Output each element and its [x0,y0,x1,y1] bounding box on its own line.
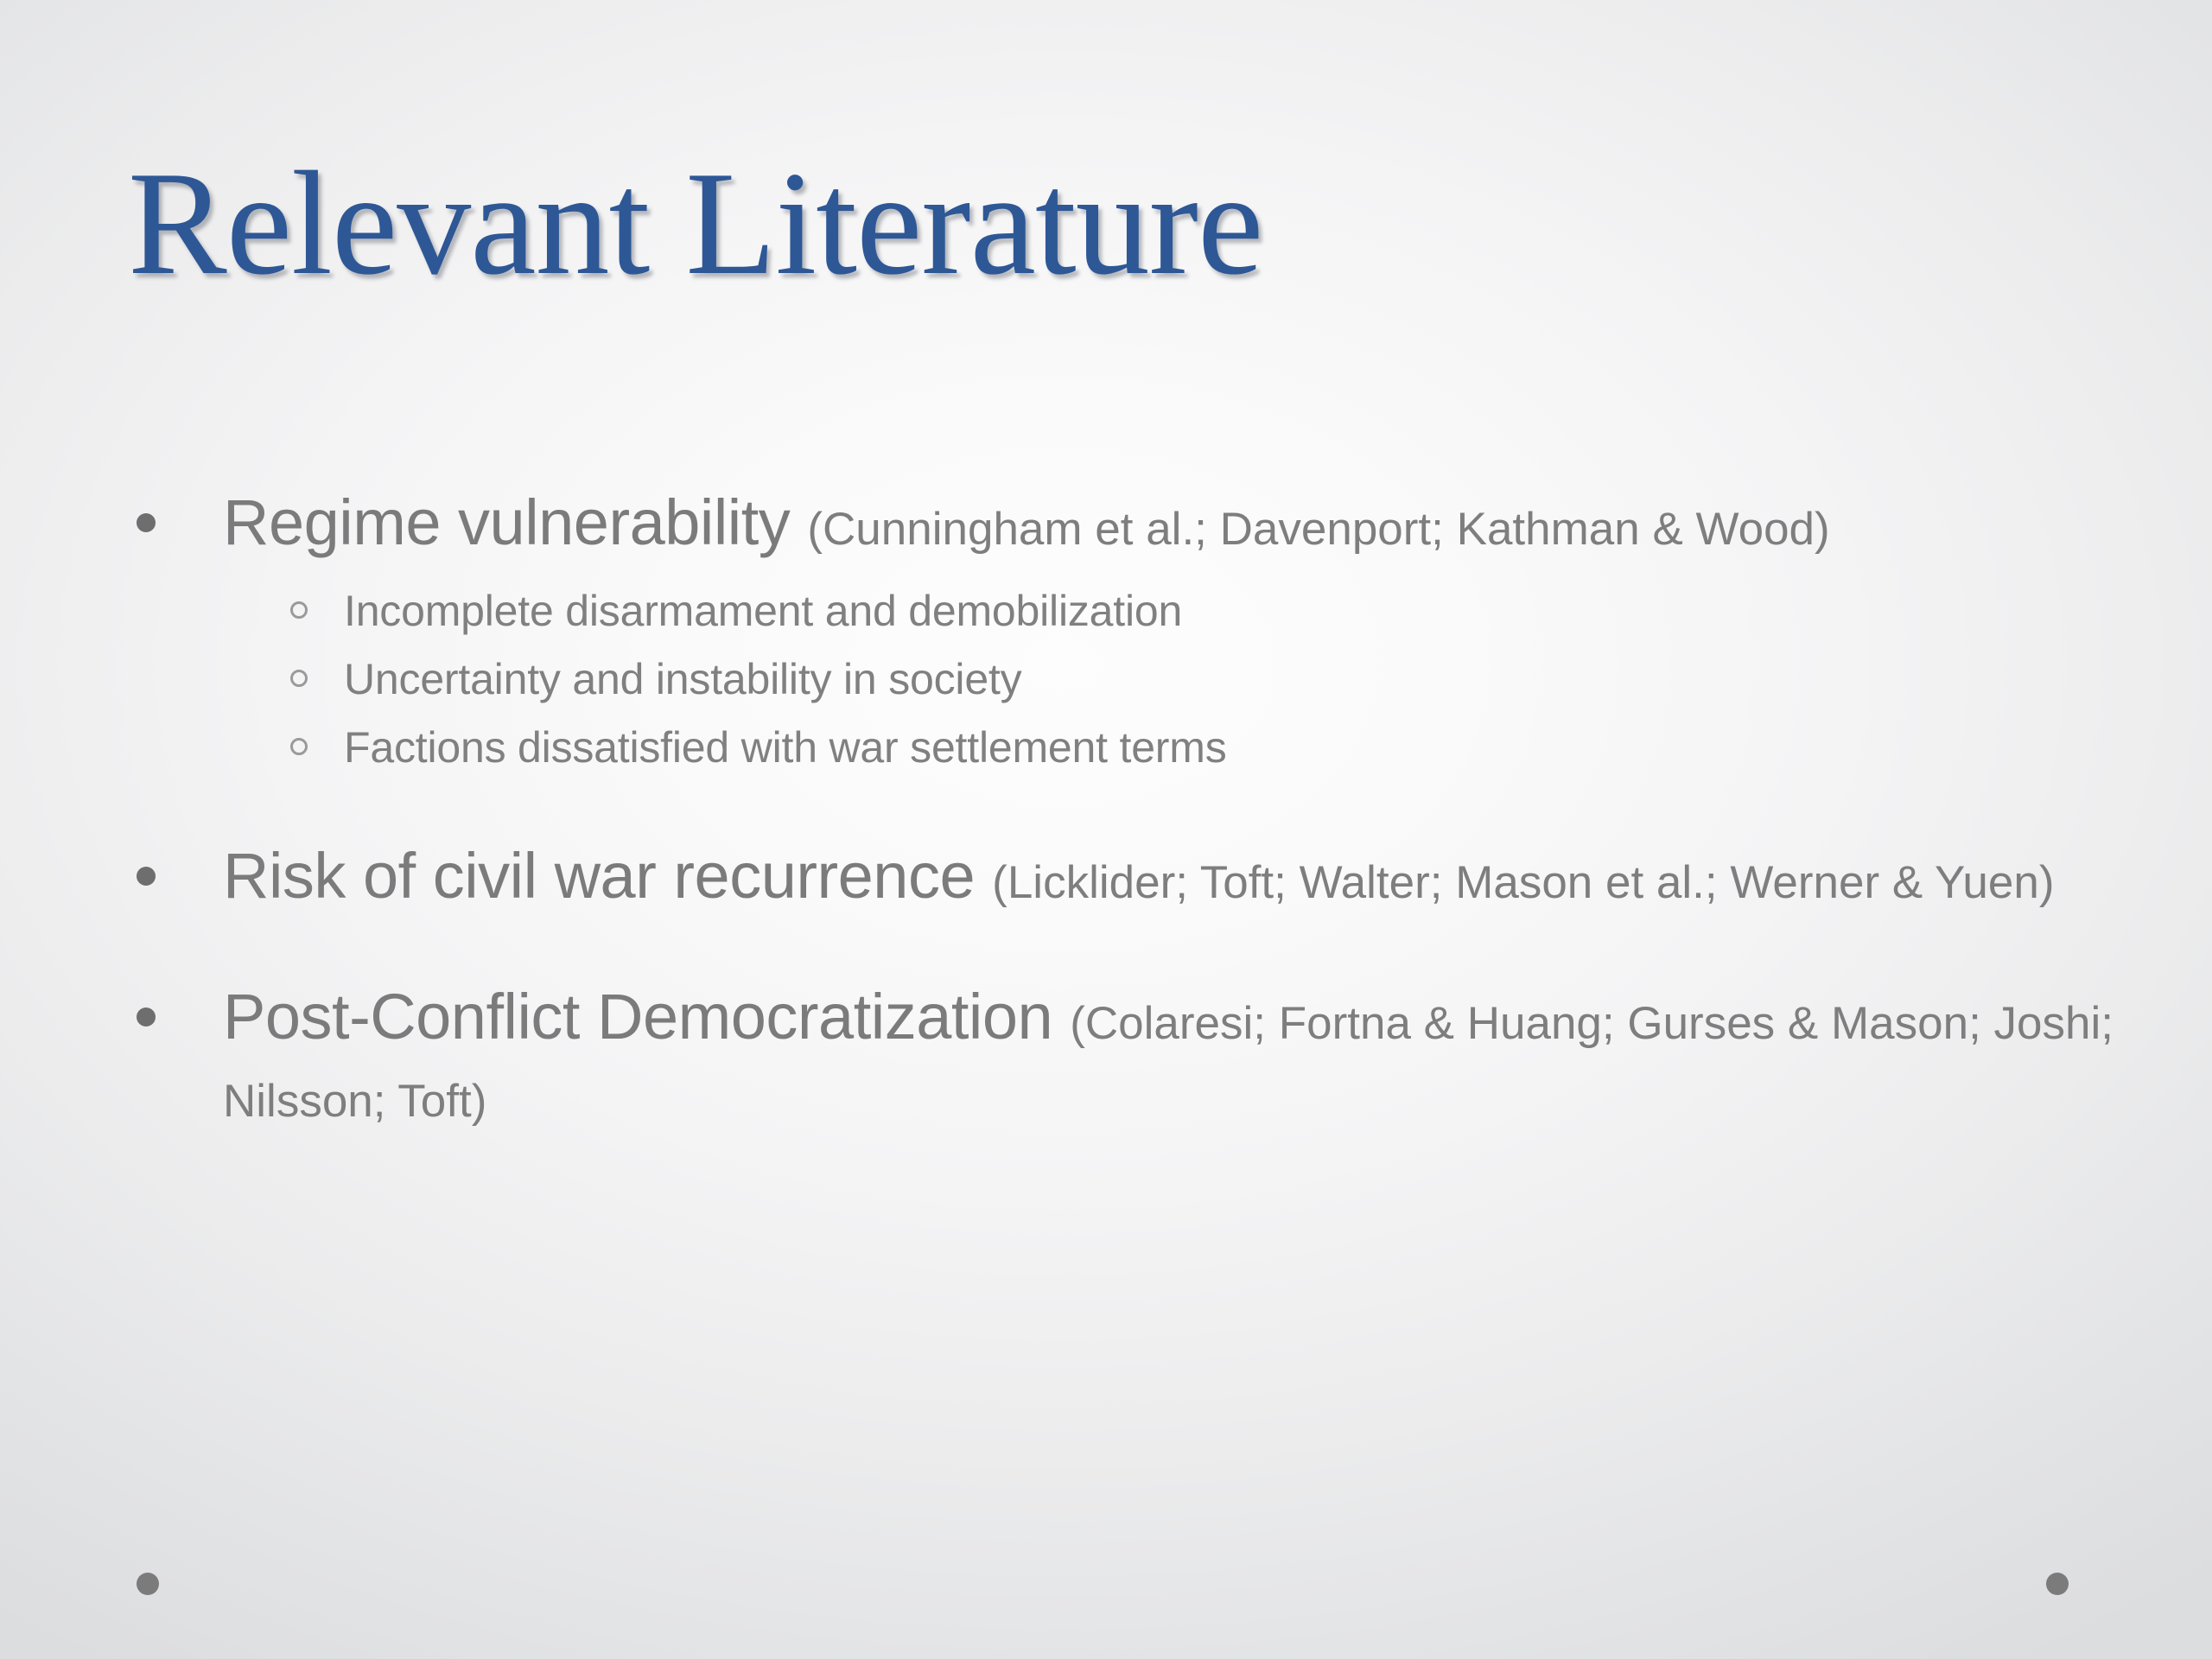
bullet-group: Risk of civil war recurrence (Licklider;… [130,837,2126,915]
bullet-group: Post-Conflict Democratization (Colaresi;… [130,978,2126,1135]
sub-bullet-label: Uncertainty and instability in society [344,655,1021,703]
list-item: Risk of civil war recurrence (Licklider;… [130,837,2126,915]
footer-dot-right-icon [2046,1573,2069,1595]
slide-canvas: Relevant Literature Regime vulnerability… [0,0,2212,1659]
bullet-citation: (Licklider; Toft; Walter; Mason et al.; … [992,857,2054,908]
hollow-circle-bullet-icon [290,670,308,687]
hollow-circle-bullet-icon [290,738,308,755]
footer-dot-left-icon [137,1573,159,1595]
bullet-group: Regime vulnerability (Cunningham et al.;… [130,484,2126,775]
filled-disc-bullet-icon [137,1007,156,1027]
bullet-citation: (Cunningham et al.; Davenport; Kathman &… [807,504,1829,555]
list-item: Incomplete disarmament and demobilizatio… [130,584,2126,639]
sub-bullet-label: Factions dissatisfied with war settlemen… [344,723,1227,772]
bullet-heading: Post-Conflict Democratization [223,981,1070,1052]
bullet-text: Risk of civil war recurrence (Licklider;… [223,837,2126,915]
hollow-circle-bullet-icon [290,601,308,619]
list-item: Regime vulnerability (Cunningham et al.;… [130,484,2126,562]
content-placeholder: Regime vulnerability (Cunningham et al.;… [130,484,2126,1134]
filled-disc-bullet-icon [137,867,156,886]
title-placeholder: Relevant Literature [128,147,2115,302]
sub-bullet-label: Incomplete disarmament and demobilizatio… [344,587,1182,635]
list-item: Post-Conflict Democratization (Colaresi;… [130,978,2126,1135]
page-title: Relevant Literature [128,147,2115,302]
filled-disc-bullet-icon [137,513,156,532]
list-item: Uncertainty and instability in society [130,652,2126,707]
bullet-text: Post-Conflict Democratization (Colaresi;… [223,978,2126,1135]
list-item: Factions dissatisfied with war settlemen… [130,721,2126,775]
sub-bullet-list: Incomplete disarmament and demobilizatio… [130,584,2126,775]
bullet-text: Regime vulnerability (Cunningham et al.;… [223,484,2126,562]
bullet-heading: Risk of civil war recurrence [223,840,992,912]
bullet-heading: Regime vulnerability [223,486,807,558]
